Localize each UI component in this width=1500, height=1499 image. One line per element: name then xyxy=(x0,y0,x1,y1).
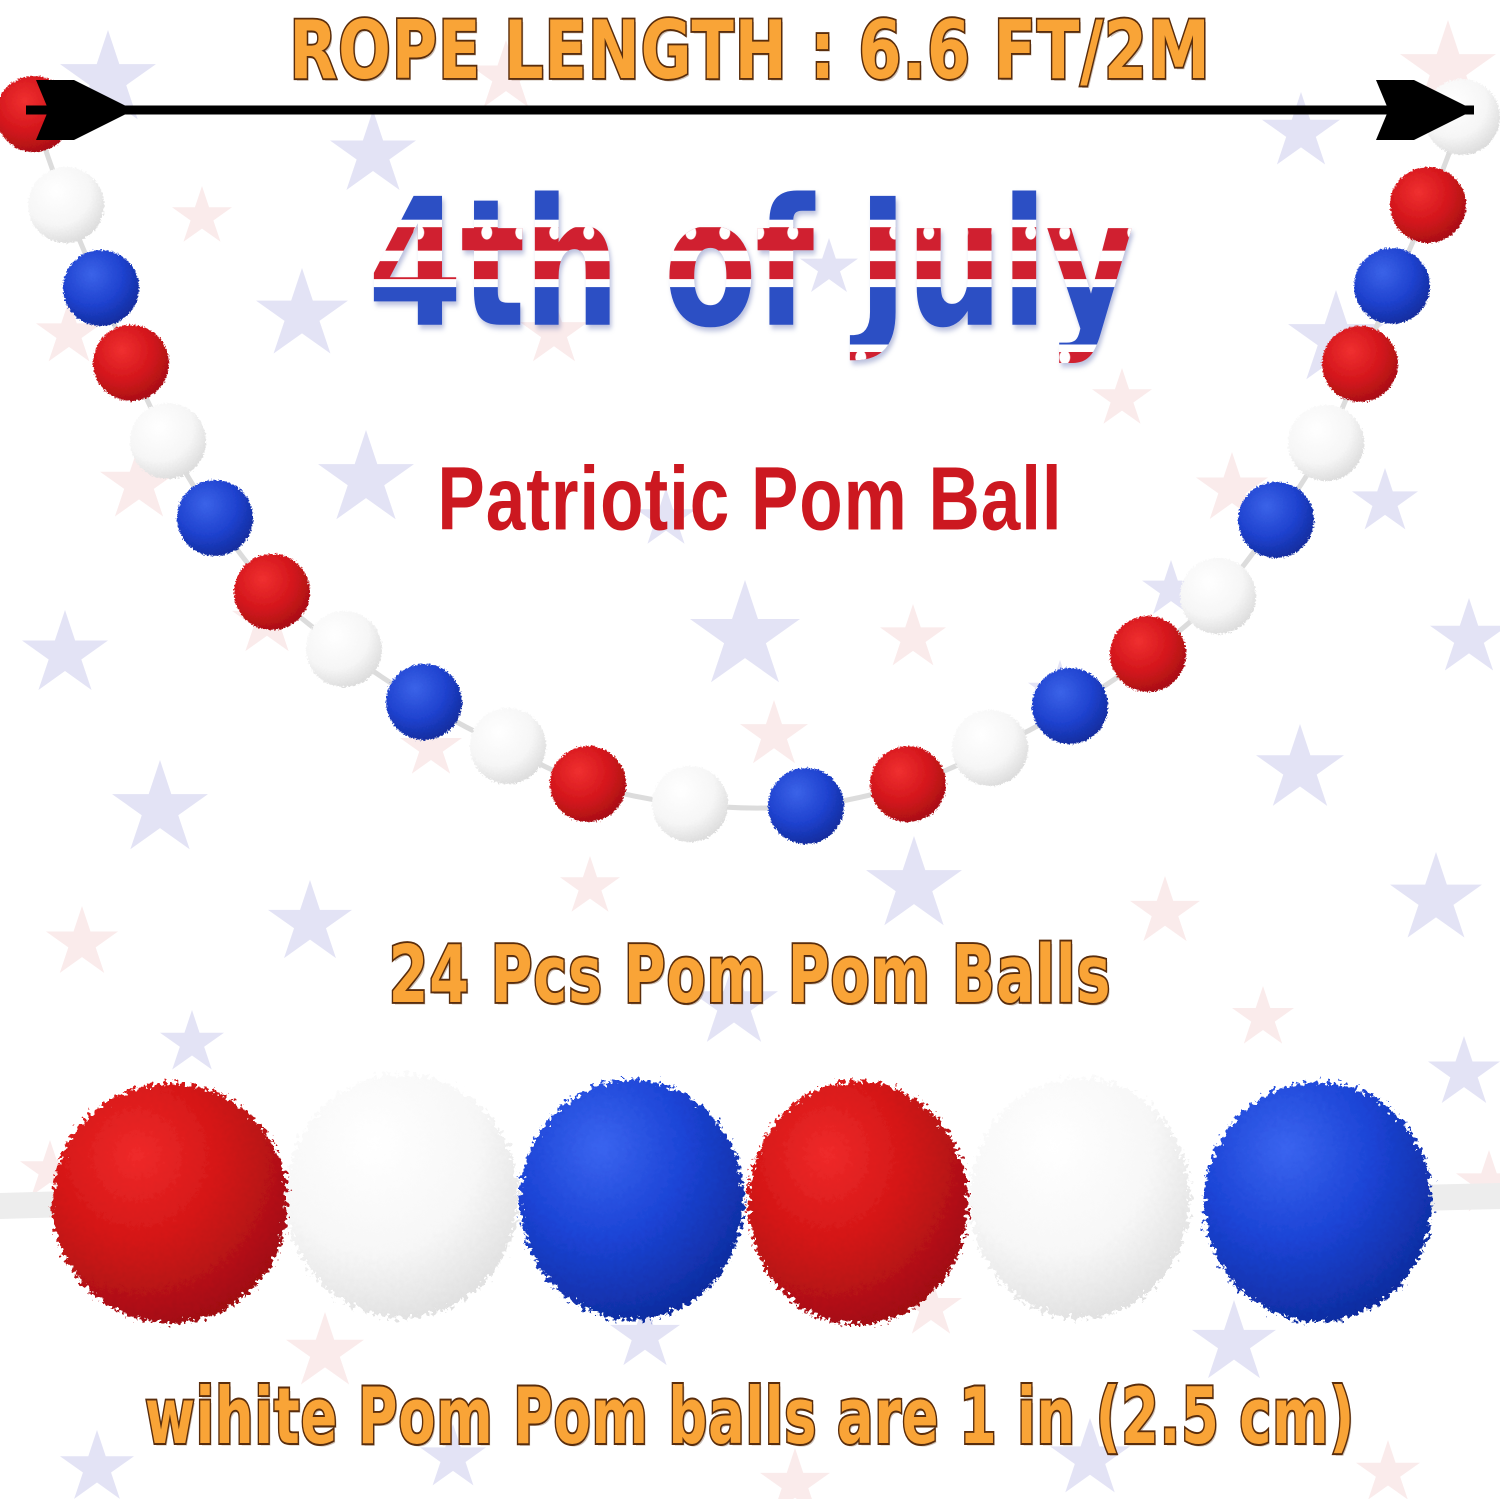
sample-pom-ball-white xyxy=(970,1078,1190,1318)
sample-pom-ball-white xyxy=(286,1074,518,1318)
ball-size-label: wihite Pom Pom balls are 1 in (2.5 cm) xyxy=(145,1372,1355,1463)
sample-pom-ball-blue xyxy=(1204,1082,1432,1322)
pom-ball-sample-row xyxy=(0,1038,1500,1378)
garland-pom-ball-blue xyxy=(1354,248,1430,324)
sample-pom-ball-red xyxy=(52,1083,288,1323)
garland-pom-ball-red xyxy=(870,746,946,822)
garland-pom-ball-blue xyxy=(1238,482,1314,558)
garland-pom-ball-white xyxy=(1288,405,1364,481)
rope-length-arrow xyxy=(0,80,1500,140)
flag-title: 4th of July xyxy=(368,162,1132,367)
garland-pom-ball-red xyxy=(1110,616,1186,692)
sample-pom-ball-red xyxy=(748,1081,968,1325)
sample-pom-ball-blue xyxy=(520,1080,744,1320)
product-name-label: Patriotic Pom Ball xyxy=(437,447,1062,551)
garland-pom-ball-white xyxy=(952,710,1028,786)
garland-pom-ball-blue xyxy=(63,250,139,326)
garland-pom-ball-white xyxy=(306,611,382,687)
garland-pom-ball-blue xyxy=(177,480,253,556)
garland-pom-ball-white xyxy=(1180,558,1256,634)
garland-pom-ball-white xyxy=(130,403,206,479)
garland-pom-ball-white xyxy=(470,708,546,784)
garland-pom-ball-blue xyxy=(1032,668,1108,744)
garland-pom-ball-blue xyxy=(386,664,462,740)
product-infographic: ROPE LENGTH : 6.6 FT/2M 4th of July Patr… xyxy=(0,0,1500,1499)
garland-pom-ball-red xyxy=(93,325,169,401)
sample-pom-balls xyxy=(52,1074,1432,1325)
background-star xyxy=(46,906,118,978)
garland-pom-ball-white xyxy=(652,766,728,842)
garland-pom-ball-red xyxy=(1322,326,1398,402)
garland-pom-ball-red xyxy=(1390,167,1466,243)
garland-pom-ball-red xyxy=(234,554,310,630)
garland-pom-ball-blue xyxy=(768,768,844,844)
background-star xyxy=(1356,1440,1420,1499)
background-star xyxy=(60,1430,134,1499)
piece-count-label: 24 Pcs Pom Pom Balls xyxy=(389,928,1112,1021)
garland-pom-ball-red xyxy=(550,746,626,822)
garland-pom-ball-white xyxy=(28,167,104,243)
